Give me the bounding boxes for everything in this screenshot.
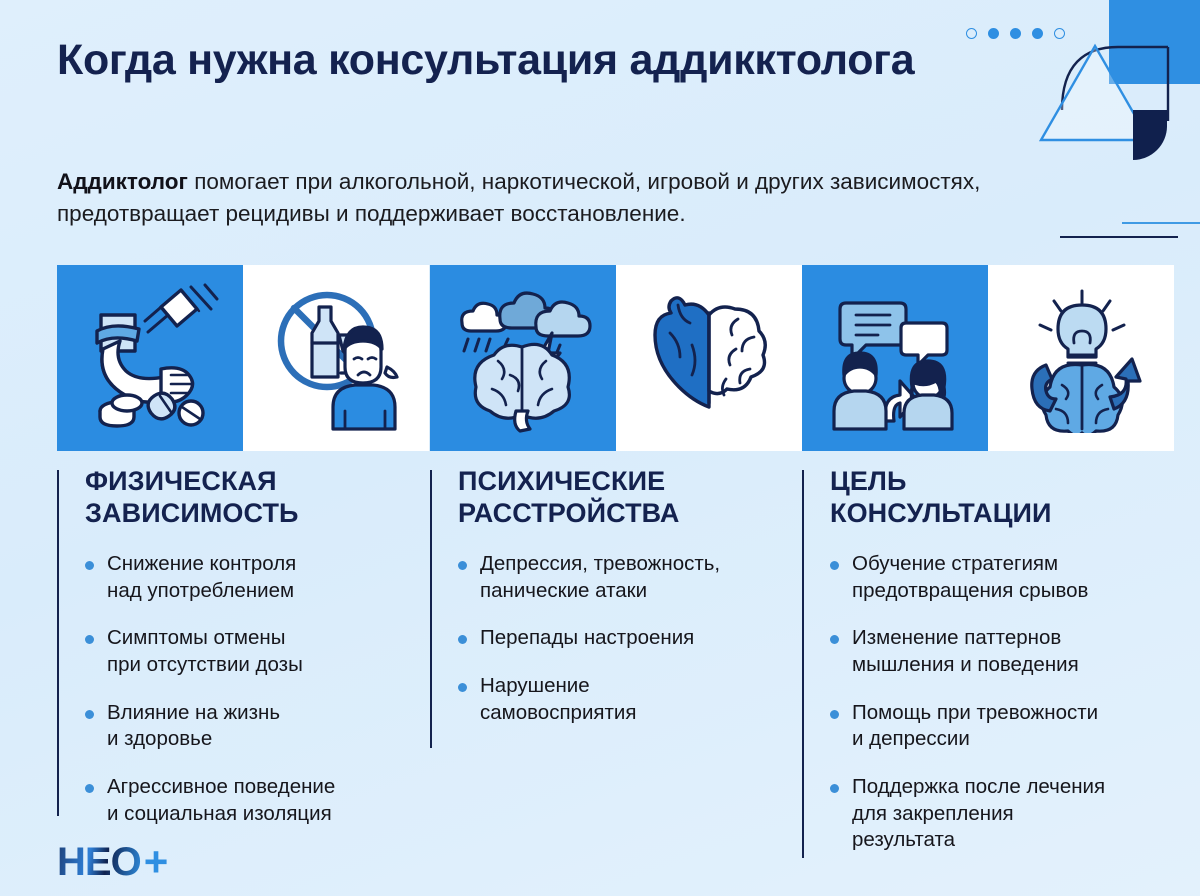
- heart-brain-split-icon: [634, 283, 784, 433]
- decorative-quarter-circle: [1133, 110, 1167, 160]
- page-subtitle: Аддиктолог помогает при алкогольной, нар…: [57, 166, 1117, 230]
- tile-syringe-arm-pills: [57, 265, 243, 451]
- tile-people-speech-bubbles: [802, 265, 988, 451]
- list-item: Перепады настроения: [458, 625, 770, 652]
- tile-heart-brain-split: [616, 265, 802, 451]
- column-mental-disorders: ПСИХИЧЕСКИЕ РАССТРОЙСТВА Депрессия, трев…: [430, 466, 770, 747]
- brand-logo: НЕО +: [57, 838, 167, 886]
- tile-group-physical: [57, 265, 429, 451]
- syringe-arm-pills-icon: [75, 283, 225, 433]
- column-title: ЦЕЛЬ КОНСУЛЬТАЦИИ: [830, 466, 1182, 529]
- lightbulb-brain-arrow-icon: [1006, 283, 1156, 433]
- tile-group-mental: [430, 265, 802, 451]
- bullet-list: Обучение стратегиям предотвращения срыво…: [830, 551, 1182, 854]
- list-item: Агрессивное поведение и социальная изоля…: [85, 774, 397, 827]
- list-item: Депрессия, тревожность, панические атаки: [458, 551, 770, 604]
- icon-tile-row: [0, 265, 1200, 451]
- decor-dot-3: [1010, 28, 1021, 39]
- tile-storm-cloud-brain: [430, 265, 616, 451]
- tile-group-goal: [802, 265, 1174, 451]
- list-item: Обучение стратегиям предотвращения срыво…: [830, 551, 1182, 604]
- list-item: Симптомы отмены при отсутствии дозы: [85, 625, 397, 678]
- decorative-rule-light: [1122, 222, 1200, 224]
- subtitle-text: помогает при алкогольной, наркотической,…: [57, 169, 980, 226]
- column-title: ФИЗИЧЕСКАЯ ЗАВИСИМОСТЬ: [85, 466, 397, 529]
- list-item: Снижение контроля над употреблением: [85, 551, 397, 604]
- bullet-list: Депрессия, тревожность, панические атаки…: [458, 551, 770, 726]
- column-title: ПСИХИЧЕСКИЕ РАССТРОЙСТВА: [458, 466, 770, 529]
- list-item: Влияние на жизнь и здоровье: [85, 700, 397, 753]
- page-title: Когда нужна консультация аддикктолога: [57, 36, 937, 86]
- list-item: Помощь при тревожности и депрессии: [830, 700, 1182, 753]
- logo-wordmark: НЕО: [57, 840, 141, 885]
- column-consultation-goal: ЦЕЛЬ КОНСУЛЬТАЦИИ Обучение стратегиям пр…: [802, 466, 1182, 875]
- decor-dot-1: [966, 28, 977, 39]
- bullet-list: Снижение контроля над употреблением Симп…: [85, 551, 397, 827]
- list-item: Изменение паттернов мышления и поведения: [830, 625, 1182, 678]
- people-speech-bubbles-icon: [820, 283, 970, 433]
- tile-lightbulb-brain-arrow: [988, 265, 1174, 451]
- logo-plus-icon: +: [144, 838, 168, 886]
- tile-no-alcohol-sad-person: [243, 265, 429, 451]
- decor-dot-2: [988, 28, 999, 39]
- subtitle-lead-term: Аддиктолог: [57, 169, 188, 194]
- list-item: Поддержка после лечения для закрепления …: [830, 774, 1182, 854]
- storm-cloud-brain-icon: [448, 283, 598, 433]
- no-alcohol-sad-person-icon: [261, 283, 411, 433]
- column-physical-dependence: ФИЗИЧЕСКАЯ ЗАВИСИМОСТЬ Снижение контроля…: [57, 466, 397, 848]
- list-item: Нарушение самовосприятия: [458, 673, 770, 726]
- infographic-poster: Когда нужна консультация аддикктолога Ад…: [0, 0, 1200, 896]
- content-columns: ФИЗИЧЕСКАЯ ЗАВИСИМОСТЬ Снижение контроля…: [0, 466, 1200, 866]
- decorative-rule-dark: [1060, 236, 1178, 238]
